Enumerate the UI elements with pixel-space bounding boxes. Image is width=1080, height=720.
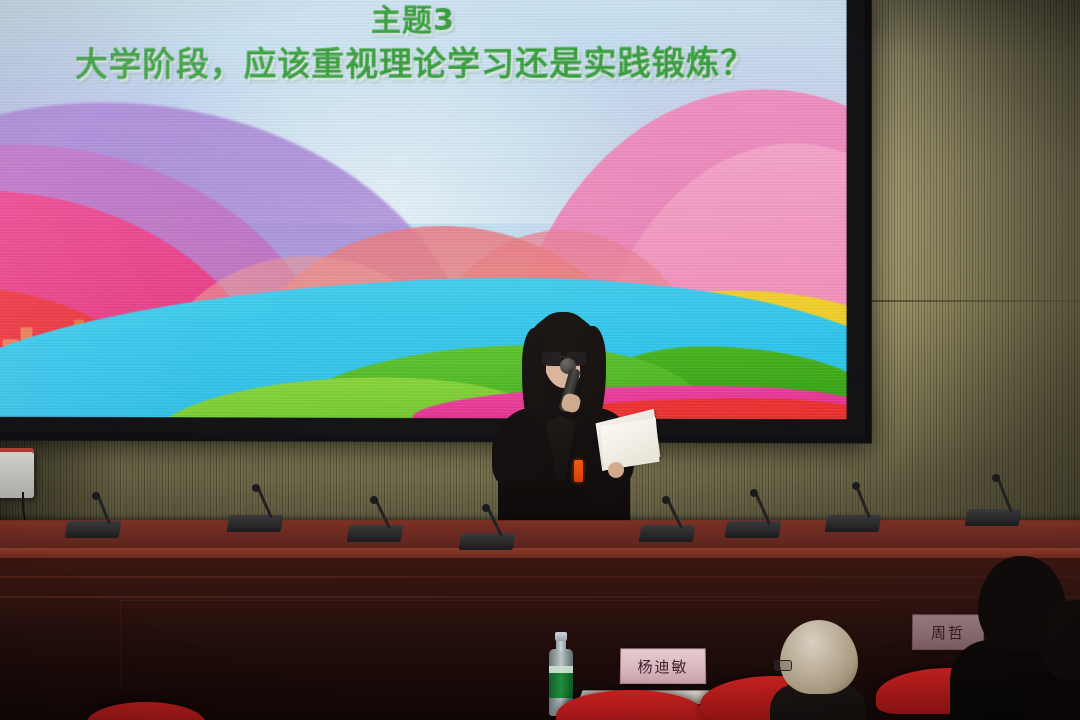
- gooseneck-microphone: [460, 500, 516, 550]
- led-screen-bezel: 主题3 大学阶段，应该重视理论学习还是实践锻炼？: [0, 0, 872, 443]
- name-placard-text: 杨迪敏: [637, 656, 688, 677]
- gooseneck-microphone: [966, 472, 1028, 526]
- name-placard: 杨迪敏: [620, 648, 707, 684]
- gooseneck-microphone: [726, 486, 784, 538]
- presenter-shoulder-left: [492, 416, 542, 486]
- led-screen-display: 主题3 大学阶段，应该重视理论学习还是实践锻炼？: [0, 0, 847, 419]
- glasses-icon: [774, 660, 792, 671]
- gooseneck-microphone: [66, 486, 126, 538]
- audience-member: [1024, 600, 1080, 720]
- gooseneck-microphone: [826, 480, 886, 532]
- held-papers-front: [600, 418, 659, 471]
- audience-member: [770, 620, 866, 720]
- gooseneck-microphone: [640, 492, 696, 542]
- gooseneck-microphone: [348, 492, 404, 542]
- presenter-badge: [574, 460, 583, 482]
- lecture-hall-photo: 主题3 大学阶段，应该重视理论学习还是实践锻炼？: [0, 0, 1080, 720]
- gooseneck-microphone: [228, 480, 288, 532]
- presenter-hand-right: [608, 462, 624, 478]
